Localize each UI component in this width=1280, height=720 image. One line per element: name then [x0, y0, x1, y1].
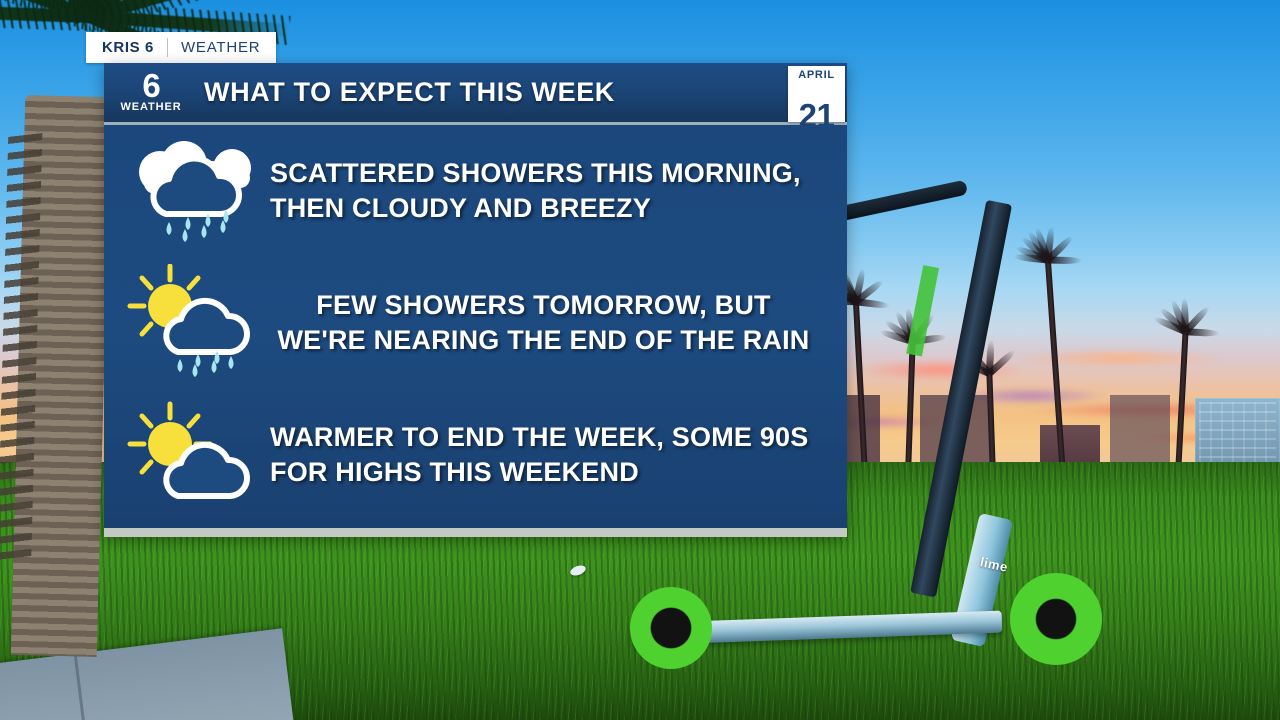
panel-header: 6 WEATHER WHAT TO EXPECT THIS WEEK APRIL… [104, 63, 847, 125]
page-title: WHAT TO EXPECT THIS WEEK [204, 77, 615, 108]
forecast-line-2: FOR HIGHS THIS WEEKEND [270, 455, 827, 490]
sun-cloud-icon [122, 396, 270, 514]
scooter-stem-accent [906, 265, 939, 356]
badge-divider [167, 38, 168, 57]
weather-graphic-screenshot: lime KRIS 6 WEATHER 6 [0, 0, 1280, 720]
logo-number: 6 [112, 69, 190, 102]
forecast-row: WARMER TO END THE WEEK, SOME 90S FOR HIG… [104, 389, 847, 521]
station-name: KRIS 6 [102, 39, 154, 56]
sun-cloud-rain-icon-svg [122, 264, 270, 382]
forecast-row: SCATTERED SHOWERS THIS MORNING, THEN CLO… [104, 125, 847, 257]
foreground-palm-trunk [11, 95, 112, 657]
sun-cloud-rain-icon [122, 264, 270, 382]
scooter-rear-wheel [1010, 573, 1102, 665]
forecast-text: FEW SHOWERS TOMORROW, BUT WE'RE NEARING … [270, 288, 827, 357]
forecast-line-1: SCATTERED SHOWERS THIS MORNING, [270, 158, 801, 188]
forecast-row: FEW SHOWERS TOMORROW, BUT WE'RE NEARING … [104, 257, 847, 389]
forecast-line-1: FEW SHOWERS TOMORROW, BUT [316, 290, 770, 320]
forecast-line-2: THEN CLOUDY AND BREEZY [270, 191, 827, 226]
date-badge: APRIL 21 [788, 66, 845, 122]
channel-6-weather-logo: 6 WEATHER [112, 72, 190, 113]
date-month: APRIL [788, 66, 845, 81]
rain-cloud-icon-svg [122, 132, 270, 250]
logo-word: WEATHER [112, 102, 190, 113]
rain-cloud-icon [122, 132, 270, 250]
station-section: WEATHER [181, 39, 261, 56]
weather-panel: 6 WEATHER WHAT TO EXPECT THIS WEEK APRIL… [104, 63, 847, 537]
scooter-front-wheel [630, 587, 712, 669]
station-badge: KRIS 6 WEATHER [86, 32, 276, 63]
sun-cloud-icon-svg [122, 396, 270, 514]
forecast-line-1: WARMER TO END THE WEEK, SOME 90S [270, 422, 808, 452]
scooter-handlebar [838, 180, 968, 222]
forecast-text: SCATTERED SHOWERS THIS MORNING, THEN CLO… [270, 156, 827, 225]
forecast-text: WARMER TO END THE WEEK, SOME 90S FOR HIG… [270, 420, 827, 489]
panel-body: SCATTERED SHOWERS THIS MORNING, THEN CLO… [104, 125, 847, 537]
forecast-line-2: WE'RE NEARING THE END OF THE RAIN [270, 323, 817, 358]
